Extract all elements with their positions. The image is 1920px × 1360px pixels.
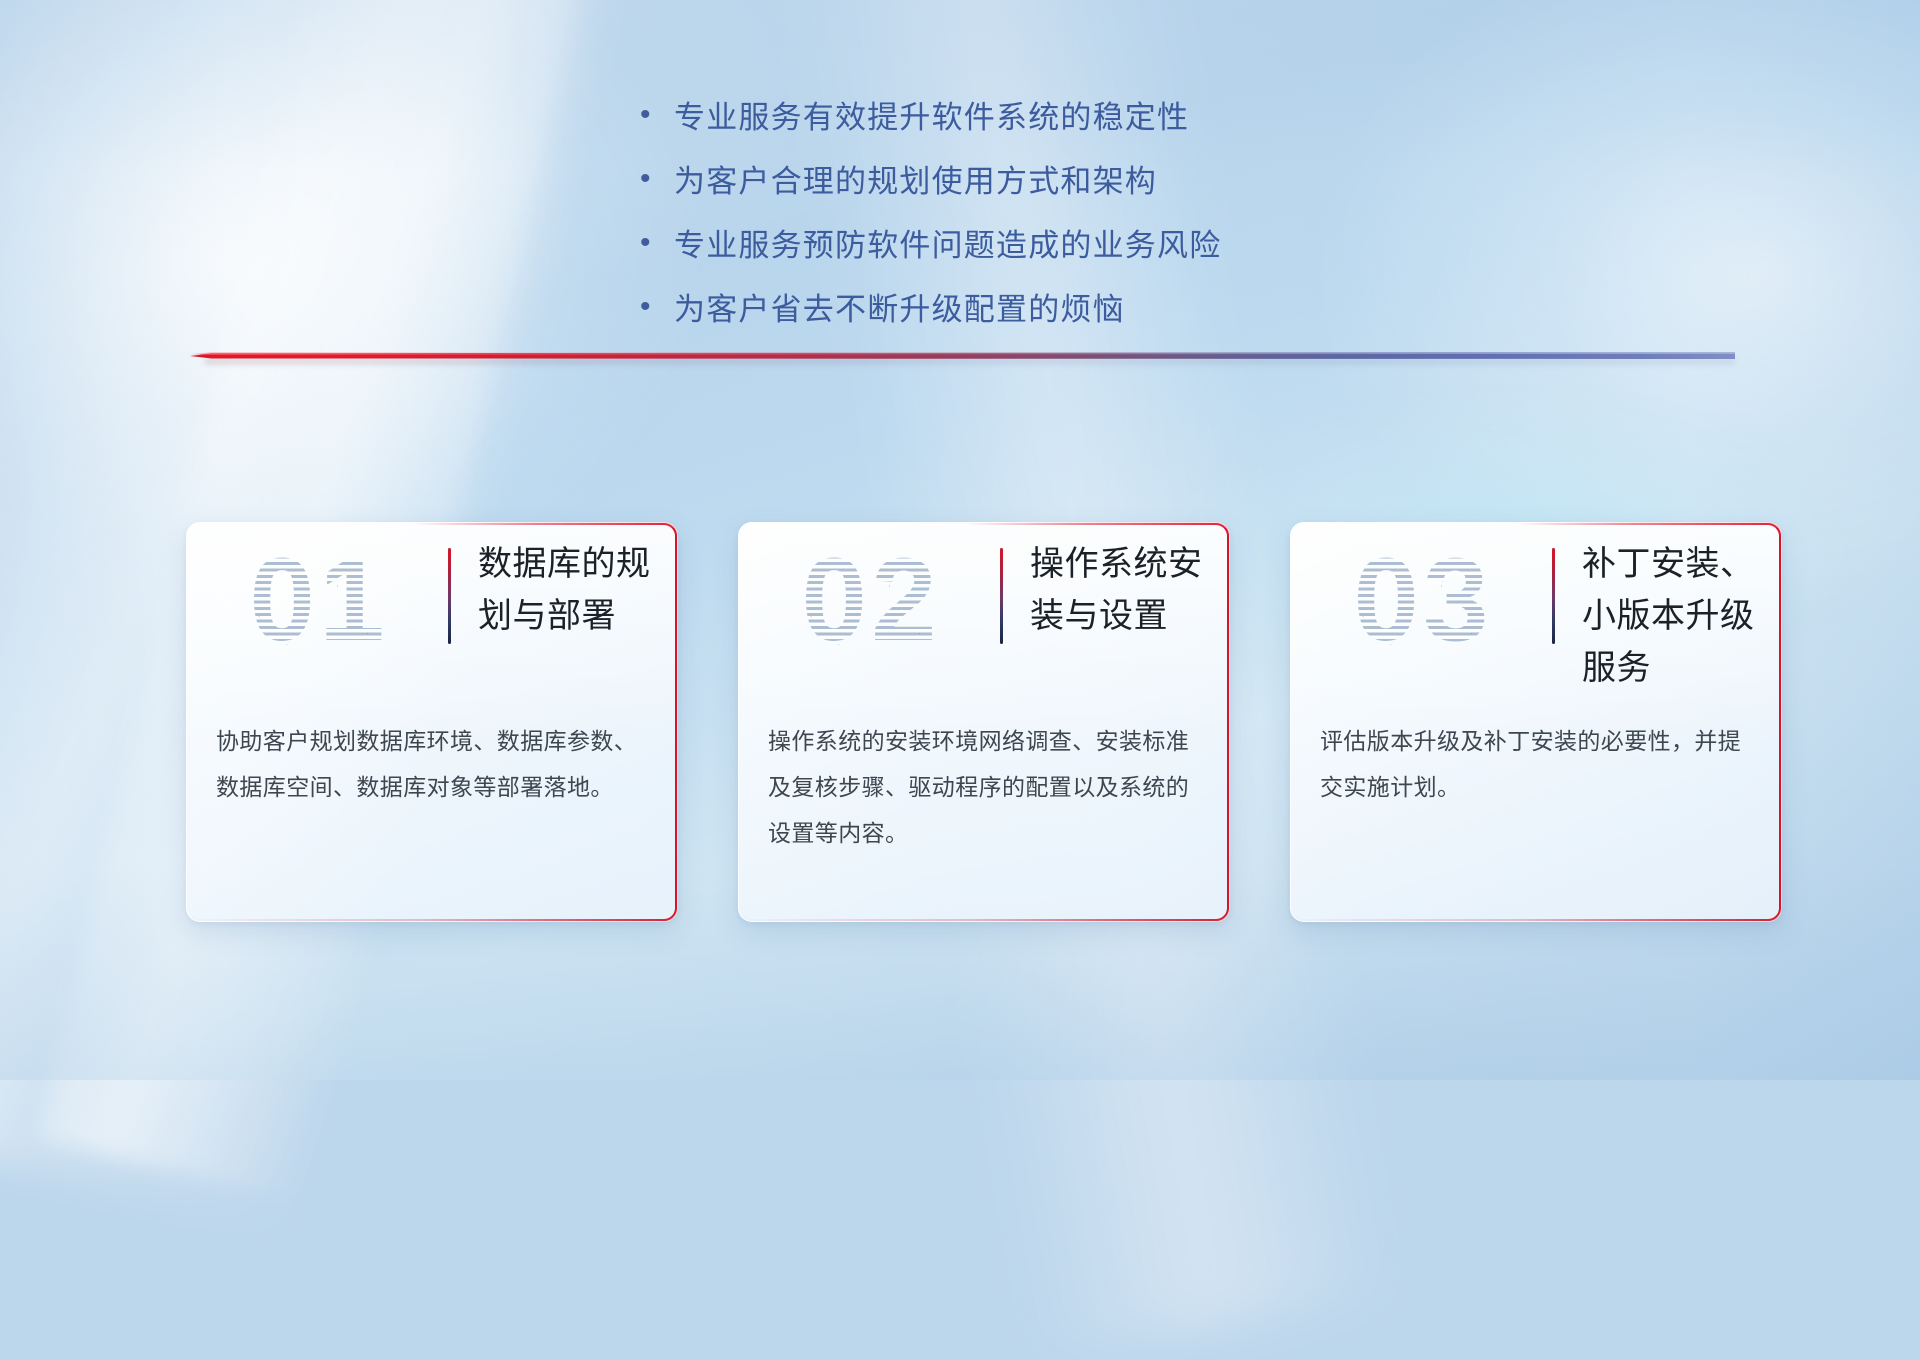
- service-card[interactable]: 03 补丁安装、小版本升级服务 评估版本升级及补丁安装的必要性，并提交实施计划。: [1290, 522, 1782, 922]
- bullet-marker-icon: •: [640, 228, 674, 258]
- bullet-label: 为客户合理的规划使用方式和架构: [674, 156, 1157, 201]
- bullet-marker-icon: •: [640, 100, 674, 130]
- section-divider: [190, 348, 1735, 366]
- bullet-item: • 专业服务有效提升软件系统的稳定性: [640, 92, 1280, 156]
- service-card[interactable]: 01 数据库的规划与部署 协助客户规划数据库环境、数据库参数、数据库空间、数据库…: [186, 522, 678, 922]
- card-title-divider: [1000, 548, 1003, 644]
- card-description: 操作系统的安装环境网络调查、安装标准及复核步骤、驱动程序的配置以及系统的设置等内…: [768, 718, 1206, 856]
- card-number-watermark: 03: [1308, 530, 1538, 670]
- card-number-watermark: 02: [756, 530, 986, 670]
- bullet-item: • 为客户省去不断升级配置的烦恼: [640, 284, 1280, 348]
- bullet-item: • 专业服务预防软件问题造成的业务风险: [640, 220, 1280, 284]
- card-title-divider: [1552, 548, 1555, 644]
- card-number-text: 01: [249, 530, 388, 670]
- bullet-label: 为客户省去不断升级配置的烦恼: [674, 284, 1125, 329]
- bullet-item: • 为客户合理的规划使用方式和架构: [640, 156, 1280, 220]
- card-header: 02 操作系统安装与设置: [738, 522, 1230, 692]
- card-title-divider: [448, 548, 451, 644]
- service-card[interactable]: 02 操作系统安装与设置 操作系统的安装环境网络调查、安装标准及复核步骤、驱动程…: [738, 522, 1230, 922]
- card-title: 数据库的规划与部署: [478, 538, 660, 642]
- card-title: 补丁安装、小版本升级服务: [1582, 538, 1764, 694]
- card-description: 协助客户规划数据库环境、数据库参数、数据库空间、数据库对象等部署落地。: [216, 718, 654, 810]
- bullet-label: 专业服务有效提升软件系统的稳定性: [674, 92, 1189, 137]
- card-description: 评估版本升级及补丁安装的必要性，并提交实施计划。: [1320, 718, 1758, 810]
- card-number-text: 02: [801, 530, 940, 670]
- card-number-text: 03: [1353, 530, 1492, 670]
- bullet-marker-icon: •: [640, 164, 674, 194]
- bullet-marker-icon: •: [640, 292, 674, 322]
- card-header: 01 数据库的规划与部署: [186, 522, 678, 692]
- card-number-watermark: 01: [204, 530, 434, 670]
- card-header: 03 补丁安装、小版本升级服务: [1290, 522, 1782, 692]
- card-title: 操作系统安装与设置: [1030, 538, 1212, 642]
- service-card-row: 01 数据库的规划与部署 协助客户规划数据库环境、数据库参数、数据库空间、数据库…: [186, 522, 1782, 922]
- bullet-label: 专业服务预防软件问题造成的业务风险: [674, 220, 1221, 265]
- section-divider-shadow: [205, 359, 1735, 364]
- benefits-bullet-list: • 专业服务有效提升软件系统的稳定性 • 为客户合理的规划使用方式和架构 • 专…: [0, 92, 1920, 348]
